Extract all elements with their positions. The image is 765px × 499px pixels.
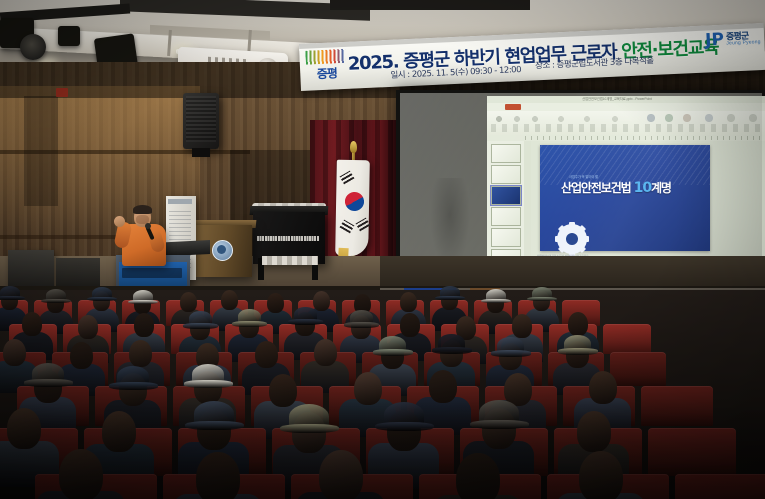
theater-seat xyxy=(648,428,736,476)
hat-brim xyxy=(24,379,73,387)
audience-head xyxy=(7,408,41,449)
county-logo: JP 증평군 Jeung Pyeong xyxy=(705,27,762,54)
wall-speaker-bracket xyxy=(192,148,210,157)
audience-head xyxy=(22,312,42,336)
microphone-head xyxy=(145,223,151,229)
audience-head xyxy=(269,374,297,407)
av-cabinet-panel xyxy=(122,268,182,278)
hat-brim xyxy=(344,322,379,327)
audience-head xyxy=(196,452,239,499)
stage-light-4 xyxy=(58,26,80,46)
stage-light-2 xyxy=(20,34,46,60)
hat-brim xyxy=(185,421,244,430)
gear-hole xyxy=(566,233,578,245)
audience-head xyxy=(78,315,98,339)
wall-speaker-grille xyxy=(186,96,216,142)
ribbon-tab-home[interactable] xyxy=(505,104,521,110)
thumbnail-scrollbar[interactable] xyxy=(524,141,531,273)
audience-head xyxy=(577,411,611,452)
ribbon-secondary-row[interactable] xyxy=(491,124,761,132)
theater-seat xyxy=(641,386,713,426)
audience-head xyxy=(221,290,238,310)
audience-head xyxy=(3,339,26,367)
piano-keys xyxy=(257,236,319,241)
ribbon-tabstrip[interactable] xyxy=(487,103,765,111)
theater-seat xyxy=(675,474,765,499)
podium-emblem-center xyxy=(217,245,226,254)
list-item[interactable] xyxy=(491,207,521,226)
slide-title-number: 10 xyxy=(634,180,651,196)
brand-logo-text: 증평 xyxy=(310,65,344,82)
standing-banner-header xyxy=(168,199,192,204)
list-item[interactable] xyxy=(491,186,521,205)
presenter-hand xyxy=(114,216,125,227)
ruler-ticks xyxy=(525,136,761,140)
powerpoint-window[interactable]: 산업안전보건법10계명_교육자료.pptx - PowerPoint 사업주가 … xyxy=(487,96,765,281)
audience-head xyxy=(59,449,102,499)
slide-title-text: 산업안전보건법 xyxy=(561,181,634,195)
hat-brim xyxy=(109,382,158,390)
slide-title: 산업안전보건법 10계명 xyxy=(561,179,671,196)
audience-head xyxy=(456,453,499,499)
slide-thumbnail-pane[interactable] xyxy=(487,141,525,273)
auditorium-photo: 증평 2025. 증평군 하반기 현업업무 근로자 안전·보건교육 일시 : 2… xyxy=(0,0,765,499)
presenter-hair xyxy=(133,205,152,214)
ceiling-dark-panel-secondary xyxy=(330,0,530,10)
audience-head xyxy=(429,370,457,403)
audience-head xyxy=(314,339,337,367)
hat-brim xyxy=(558,348,599,354)
hat-brim xyxy=(373,349,414,355)
theater-seat xyxy=(610,352,666,386)
audience-head xyxy=(400,292,417,312)
hat-brim xyxy=(470,420,529,429)
hat-brim xyxy=(432,347,473,353)
hat-brim xyxy=(280,424,339,433)
audience-head xyxy=(400,313,420,337)
wall-panel-left xyxy=(24,96,58,206)
audience-head xyxy=(267,293,284,313)
hat-brim xyxy=(375,422,434,431)
county-logo-mark-icon: JP xyxy=(705,31,726,51)
list-item[interactable] xyxy=(491,228,521,247)
window-title: 산업안전보건법10계명_교육자료.pptx - PowerPoint xyxy=(517,96,717,103)
list-item[interactable] xyxy=(491,165,521,184)
county-logo-english: Jeung Pyeong xyxy=(726,39,761,47)
audience-head xyxy=(589,371,617,404)
audience-head xyxy=(579,451,622,499)
hat-brim xyxy=(184,380,233,388)
hat-brim xyxy=(183,323,218,328)
audience-head xyxy=(102,411,136,452)
piano-bench xyxy=(262,256,318,265)
slide-title-suffix: 계명 xyxy=(651,181,671,195)
theater-seat xyxy=(603,324,651,354)
audience-head xyxy=(568,312,588,336)
hat-brim xyxy=(288,319,323,324)
jeungpyeong-brand-logo: 증평 xyxy=(305,48,347,86)
brand-logo-mark-icon xyxy=(305,49,346,65)
audience-head xyxy=(255,341,278,369)
audience-head xyxy=(313,291,330,311)
hat-brim xyxy=(232,321,267,326)
audience-head xyxy=(70,342,93,370)
audience-head xyxy=(180,292,197,312)
audience-head xyxy=(129,340,152,368)
audience-head xyxy=(134,313,154,337)
audience-head xyxy=(512,314,532,338)
exit-sign xyxy=(56,88,68,97)
audience-head xyxy=(354,372,382,405)
flag-finial xyxy=(350,141,357,153)
audience-head xyxy=(319,450,362,499)
list-item[interactable] xyxy=(491,144,521,163)
gear-icon xyxy=(557,224,587,254)
audience-seating xyxy=(0,286,765,499)
hat-brim xyxy=(491,350,532,356)
